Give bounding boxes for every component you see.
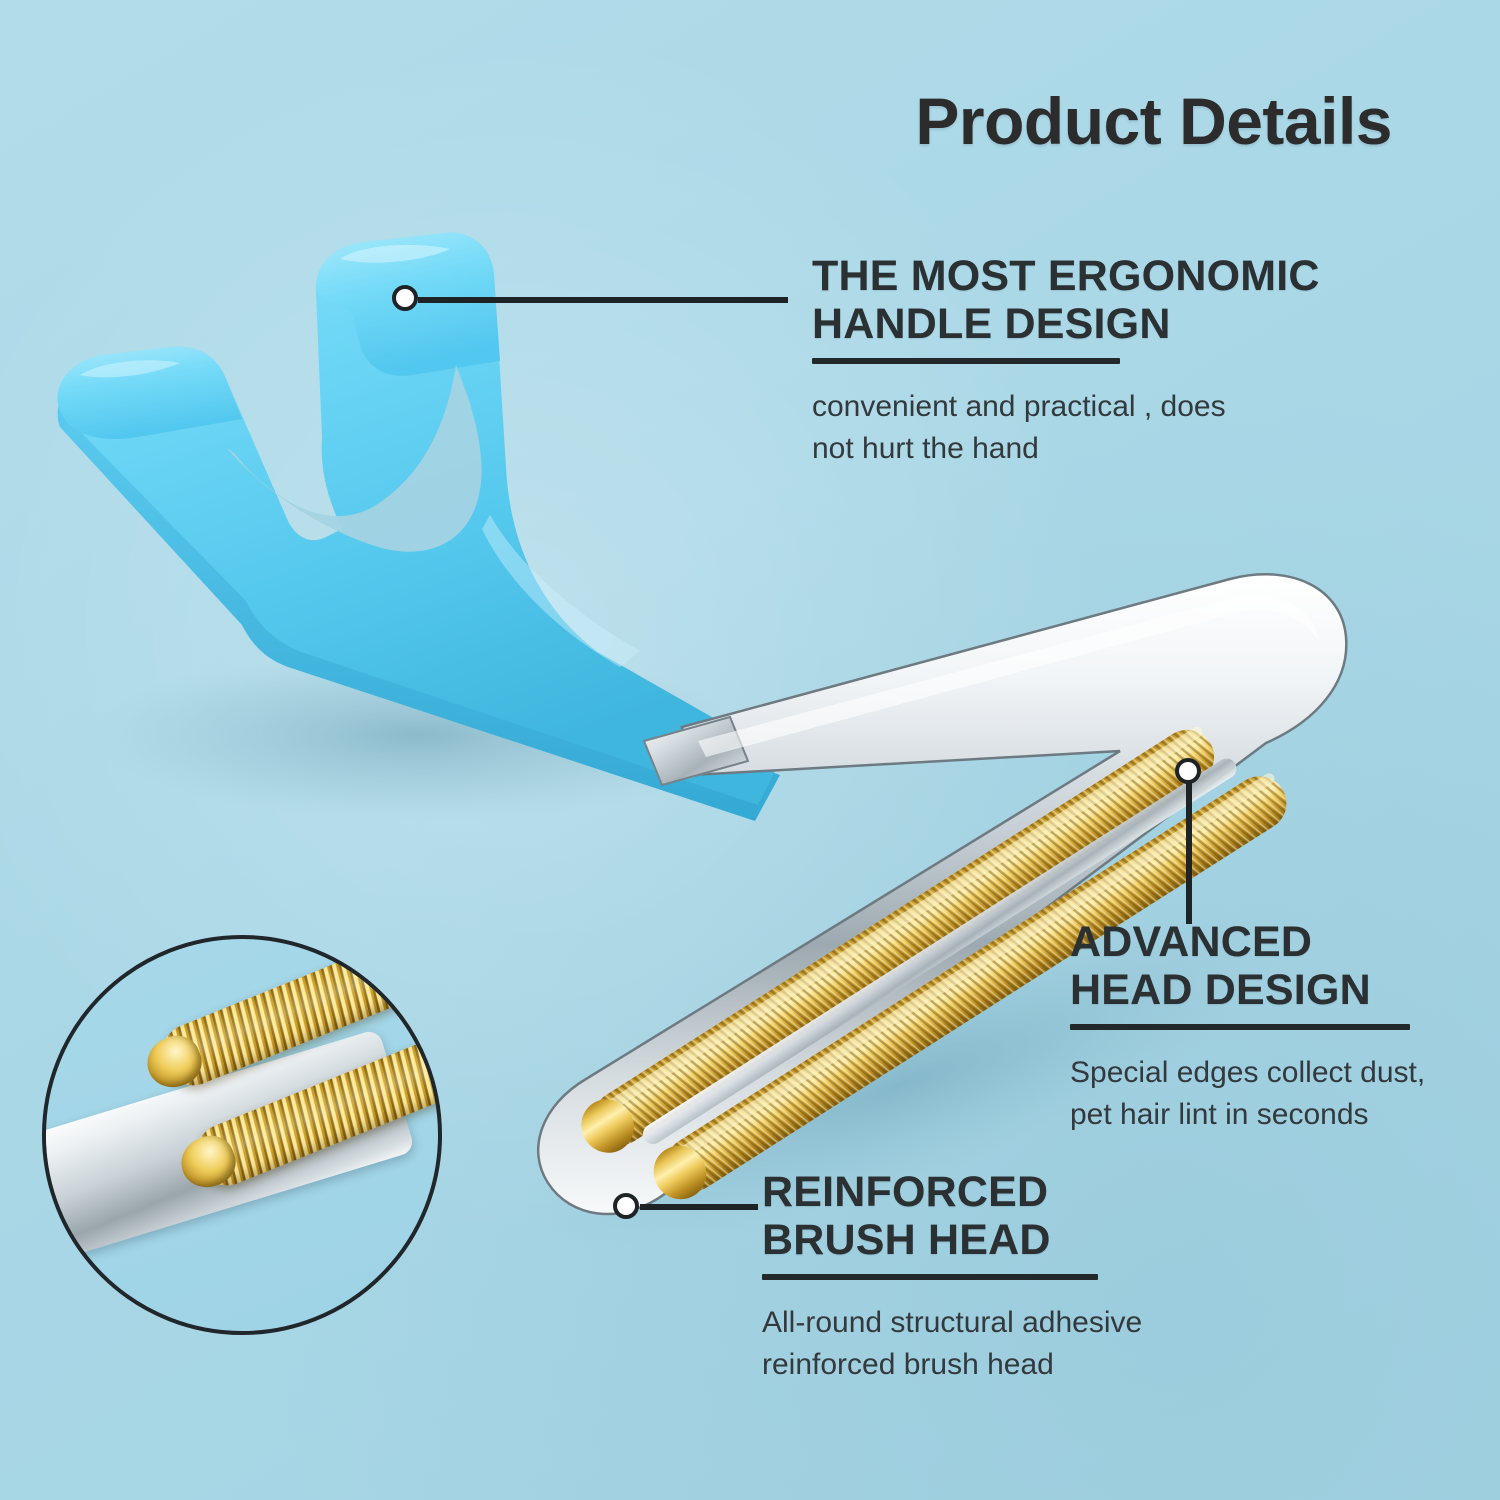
callout-advanced-head: ADVANCED HEAD DESIGN Special edges colle… [1070, 918, 1425, 1135]
leader-line-reinforced-brush-head [640, 1204, 758, 1210]
callout-heading-line2: HEAD DESIGN [1070, 966, 1425, 1014]
callout-heading-line2: BRUSH HEAD [762, 1216, 1142, 1264]
callout-body-text: Special edges collect dust, pet hair lin… [1070, 1052, 1425, 1135]
callout-dot-ergonomic-handle[interactable] [392, 285, 418, 311]
callout-reinforced-brush-head: REINFORCED BRUSH HEAD All-round structur… [762, 1168, 1142, 1385]
callout-heading-line1: REINFORCED [762, 1168, 1142, 1216]
callout-ergonomic-handle: THE MOST ERGONOMIC HANDLE DESIGN conveni… [812, 252, 1320, 469]
page-title: Product Details [915, 88, 1392, 154]
leader-line-advanced-head [1186, 782, 1192, 924]
infographic-canvas: Product Details THE MOST ERGONOMIC HANDL… [0, 0, 1500, 1500]
callout-underline [1070, 1024, 1410, 1030]
magnified-detail-inset [42, 935, 442, 1335]
callout-body-text: convenient and practical , does not hurt… [812, 386, 1320, 469]
callout-underline [812, 358, 1120, 364]
callout-dot-advanced-head[interactable] [1175, 758, 1201, 784]
callout-heading-line1: THE MOST ERGONOMIC [812, 252, 1320, 300]
inset-content [46, 939, 438, 1331]
leader-line-ergonomic-handle [418, 297, 788, 303]
product-brush-head-illustration [430, 545, 1360, 1265]
callout-underline [762, 1274, 1098, 1280]
callout-heading-line2: HANDLE DESIGN [812, 300, 1320, 348]
callout-body-text: All-round structural adhesive reinforced… [762, 1302, 1142, 1385]
chrome-bridge-clip [644, 717, 748, 785]
callout-heading-line1: ADVANCED [1070, 918, 1425, 966]
callout-dot-reinforced-brush-head[interactable] [613, 1193, 639, 1219]
